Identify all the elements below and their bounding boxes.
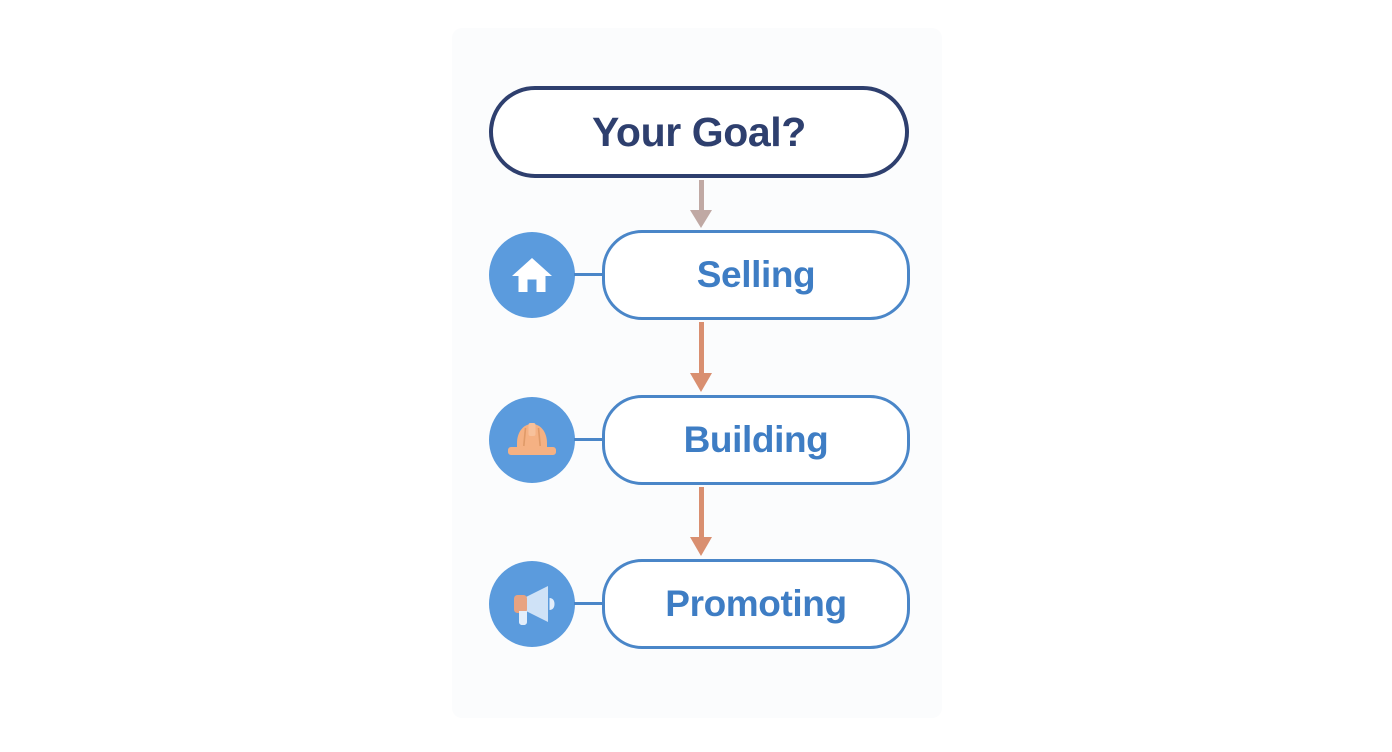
node-promoting[interactable]: Promoting [602,559,910,649]
node-your-goal-label: Your Goal? [592,109,806,156]
connector-selling-to-building [690,322,712,394]
node-selling-label: Selling [697,254,816,296]
hard-hat-icon [506,419,558,461]
node-building[interactable]: Building [602,395,910,485]
connector-shaft [699,487,704,541]
node-your-goal[interactable]: Your Goal? [489,86,909,178]
connector-icon-to-selling [574,273,604,276]
arrowhead-down-icon [690,537,712,556]
connector-shaft [699,180,704,214]
node-promoting-label: Promoting [665,583,846,625]
house-icon [510,255,554,295]
diagram-canvas: Your Goal? Selling [0,0,1392,752]
icon-badge-selling[interactable] [489,232,575,318]
arrowhead-down-icon [690,210,712,228]
megaphone-icon [506,581,558,627]
icon-badge-building[interactable] [489,397,575,483]
connector-shaft [699,322,704,377]
node-building-label: Building [684,419,829,461]
arrowhead-down-icon [690,373,712,392]
connector-icon-to-building [574,438,604,441]
connector-goal-to-selling [690,180,712,228]
connector-building-to-promoting [690,487,712,558]
connector-icon-to-promoting [574,602,604,605]
icon-badge-promoting[interactable] [489,561,575,647]
node-selling[interactable]: Selling [602,230,910,320]
